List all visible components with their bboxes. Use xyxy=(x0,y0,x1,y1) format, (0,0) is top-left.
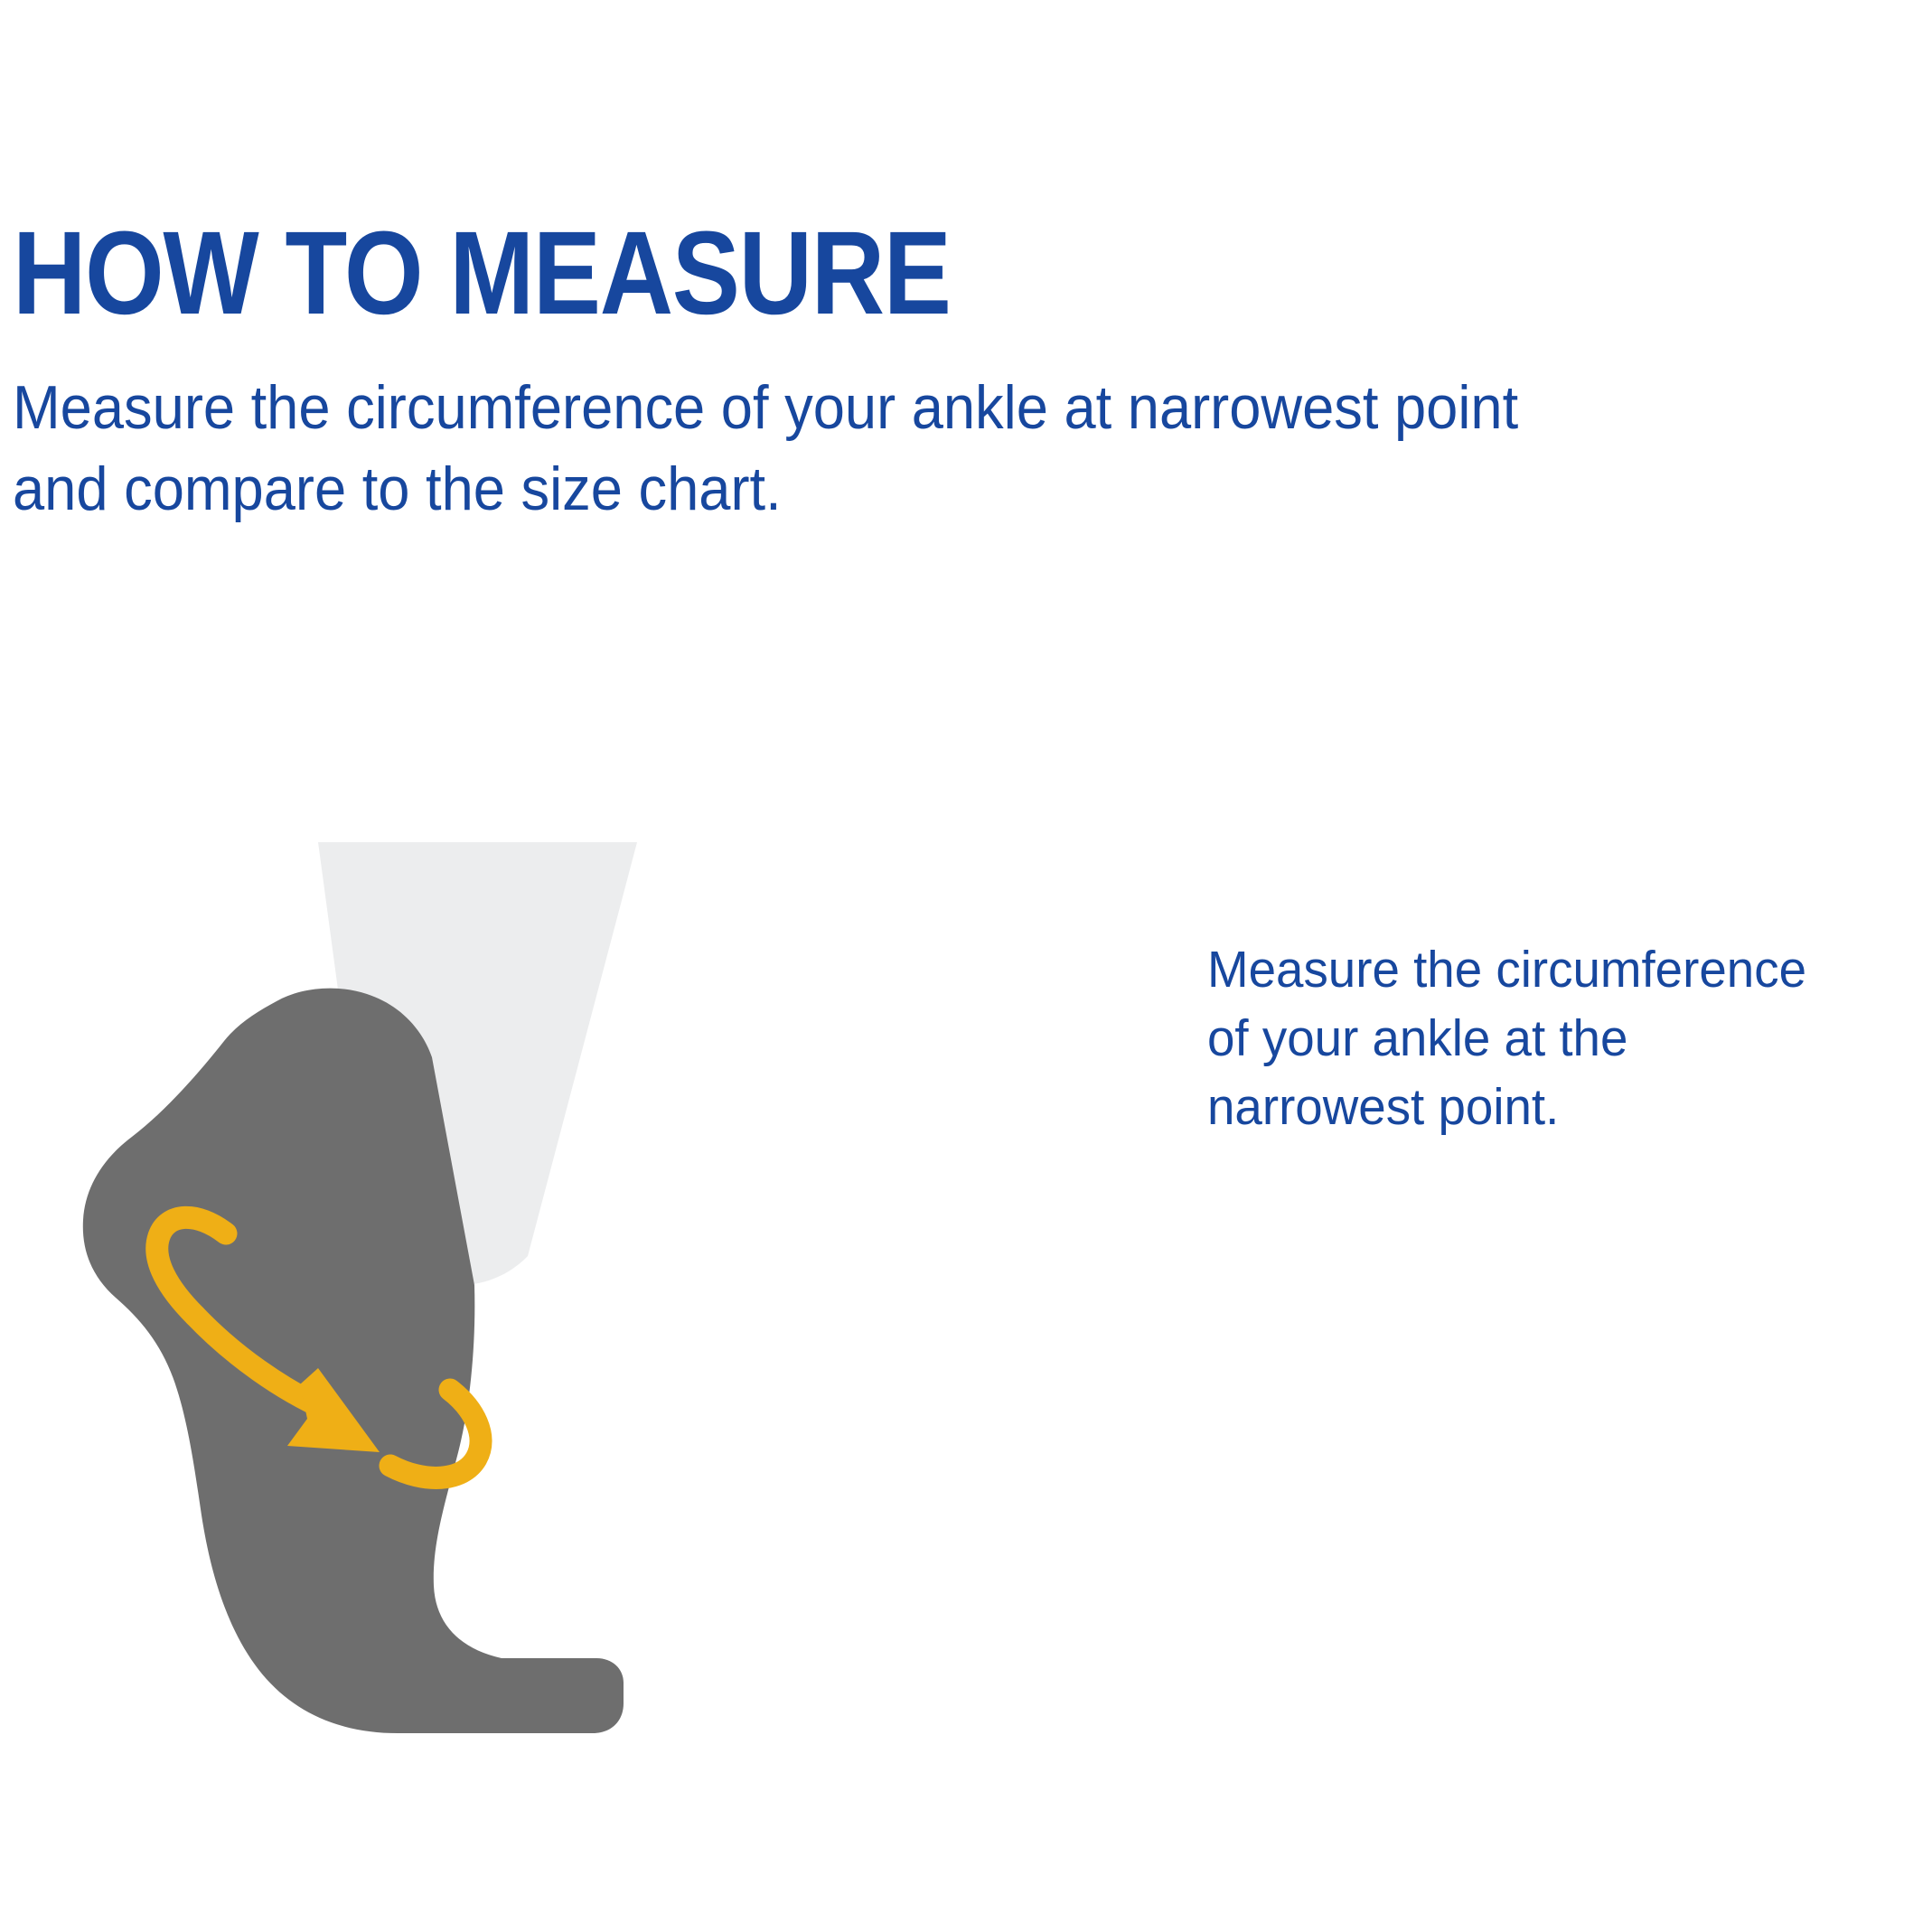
intro-paragraph: Measure the circumference of your ankle … xyxy=(13,332,1609,530)
callout-block: Measure the circumference of your ankle … xyxy=(1207,936,1932,1141)
page-title: HOW TO MEASURE xyxy=(13,213,1489,332)
heading-block: HOW TO MEASURE Measure the circumference… xyxy=(13,213,1730,530)
callout-text: Measure the circumference of your ankle … xyxy=(1207,936,1910,1141)
ankle-measurement-illustration xyxy=(0,786,705,1744)
